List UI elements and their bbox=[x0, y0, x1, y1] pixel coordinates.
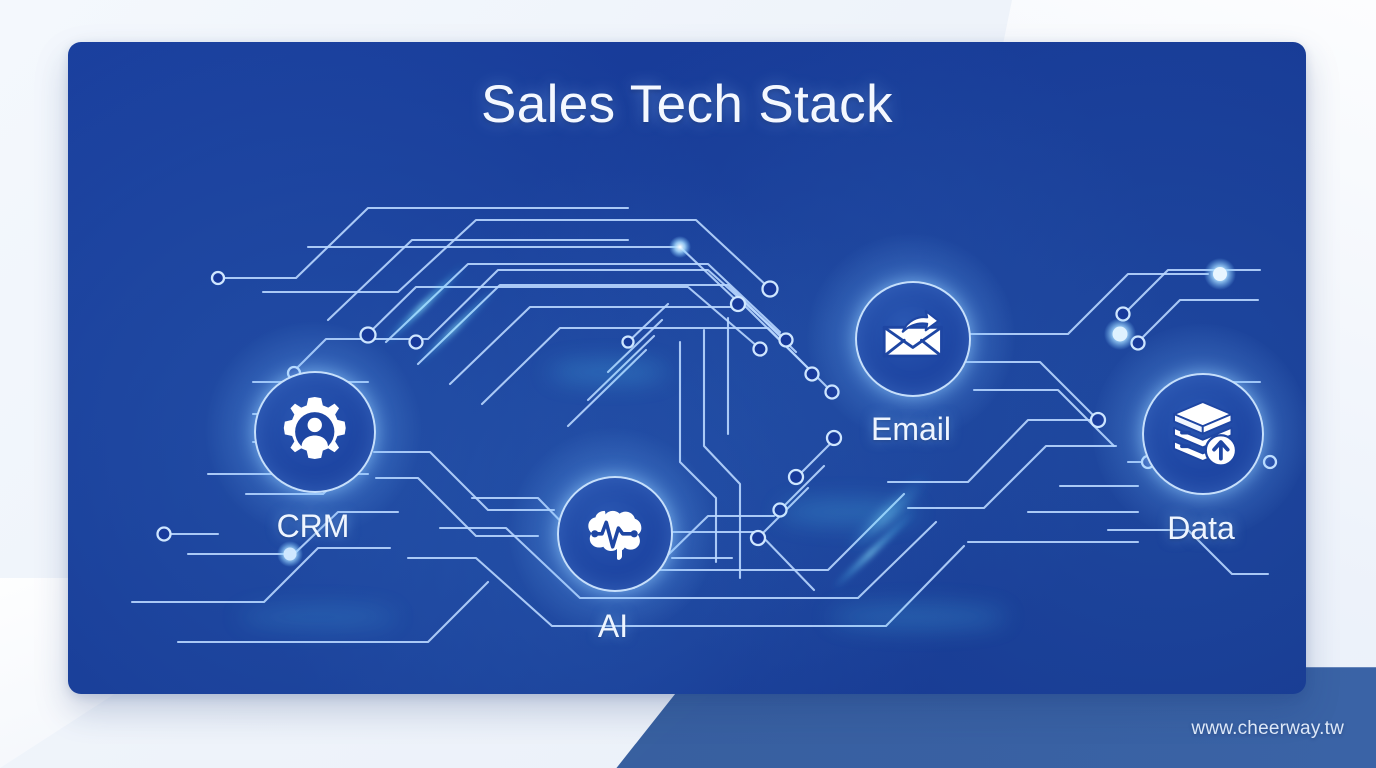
gear-person-icon bbox=[277, 394, 353, 470]
node-circle-email[interactable] bbox=[855, 281, 971, 397]
envelope-forward-icon bbox=[877, 303, 949, 375]
circuit-trace-graphic bbox=[68, 42, 1306, 694]
watermark-url: www.cheerway.tw bbox=[1191, 718, 1344, 740]
card-title: Sales Tech Stack bbox=[68, 74, 1306, 135]
node-label-ai: AI bbox=[598, 608, 628, 645]
node-label-crm: CRM bbox=[277, 508, 350, 545]
node-circle-ai[interactable] bbox=[557, 476, 673, 592]
node-circle-data[interactable] bbox=[1142, 373, 1264, 495]
screenshot-root: Sales Tech Stack CRM bbox=[0, 0, 1376, 768]
node-label-email: Email bbox=[871, 411, 951, 448]
server-upload-icon bbox=[1165, 396, 1241, 472]
brain-pulse-icon bbox=[579, 498, 651, 570]
node-circle-crm[interactable] bbox=[254, 371, 376, 493]
node-label-data: Data bbox=[1167, 510, 1235, 547]
diagram-card: Sales Tech Stack CRM bbox=[68, 42, 1306, 694]
